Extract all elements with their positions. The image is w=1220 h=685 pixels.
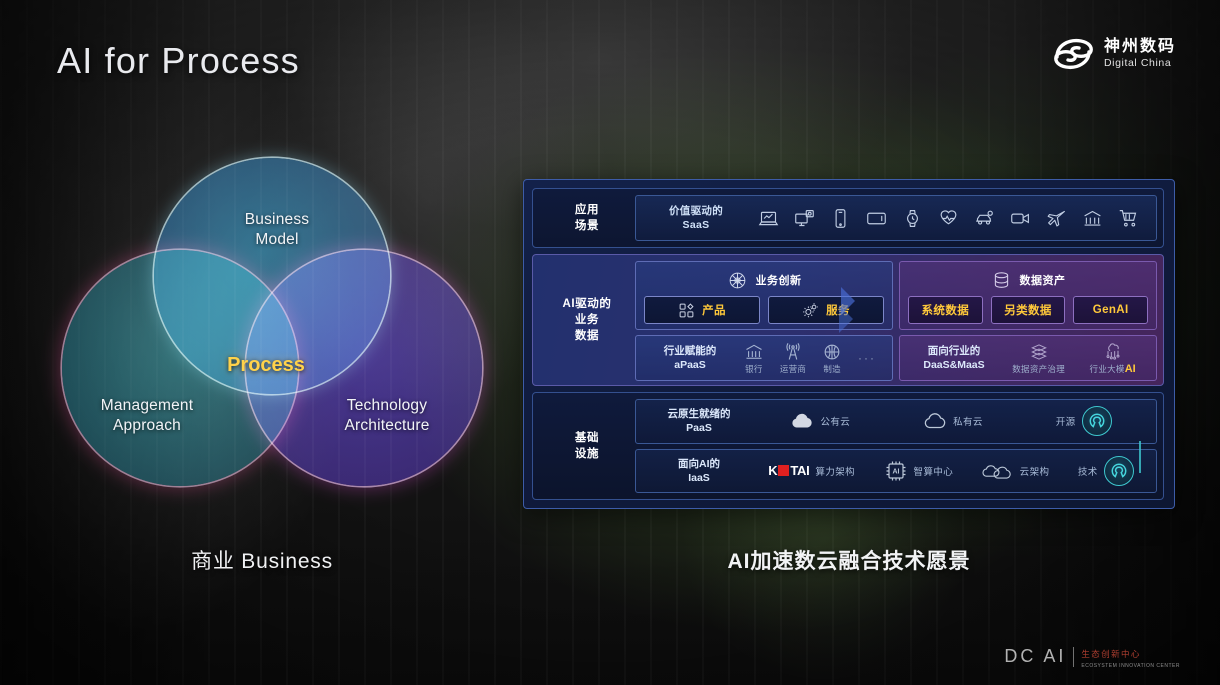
database-icon	[991, 270, 1012, 291]
venn-label-business-line2: Model	[217, 230, 337, 250]
tablet-icon	[866, 208, 887, 229]
daas-item-governance-label: 数据资产治理	[1012, 363, 1065, 375]
heartbeat-icon	[938, 208, 959, 229]
data-assets-header: 数据资产	[908, 267, 1148, 293]
iaas-item-compute-label: 算力架构	[815, 464, 855, 478]
footer-divider	[1073, 647, 1074, 667]
chip-alternative-data[interactable]: 另类数据	[991, 296, 1066, 324]
chip-product-label: 产品	[702, 302, 726, 318]
antenna-icon	[783, 342, 803, 362]
chip-product[interactable]: 产品	[644, 296, 760, 324]
venn-center-label: Process	[202, 354, 330, 377]
iaas-item-cloud-arch-label: 云架构	[1020, 464, 1050, 478]
apaas-item-manufacturing: 制造	[822, 342, 842, 375]
brand-text: 神州数码 Digital China	[1104, 39, 1176, 68]
business-innovation-box: 业务创新 产品 服务	[635, 261, 893, 330]
paas-badge-label: 开源	[1056, 414, 1076, 428]
blocks-icon	[678, 302, 695, 319]
paas-badge-opensource: 开源	[1056, 406, 1112, 436]
bank-icon	[1082, 208, 1103, 229]
daas-maas-title: 面向行业的 DaaS&MaaS	[908, 344, 1000, 372]
kutai-logo-icon: K TAI	[768, 463, 809, 478]
band-body-infrastructure: 云原生就绪的 PaaS 公有云 私有云 开源	[635, 399, 1157, 493]
kutai-red-square	[778, 465, 789, 476]
infra-row-iaas: 面向AI的 IaaS K TAI 算力架构 AI 智算中心	[635, 449, 1157, 494]
daas-item-governance: 数据资产治理	[1012, 342, 1065, 375]
daas-item-industry-llm-label: 行业大模	[1090, 363, 1125, 375]
chip-alternative-data-label: 另类数据	[1004, 302, 1052, 318]
venn-label-technology-line1: Technology	[312, 396, 462, 416]
svg-text:AI: AI	[892, 468, 899, 475]
apaas-box: 行业赋能的 aPaaS 银行 运营商	[635, 335, 893, 381]
footer-dcai-text: DC AI	[1004, 646, 1066, 667]
shopping-cart-icon	[1118, 208, 1139, 229]
chip-service-label: 服务	[826, 302, 850, 318]
bank-icon	[744, 342, 764, 362]
paas-item-private-cloud: 私有云	[923, 409, 983, 433]
venn-label-business-line1: Business	[217, 210, 337, 230]
venn-caption: 商业 Business	[62, 545, 462, 575]
daas-maas-items: 数据资产治理 行业大模 AI	[1000, 342, 1148, 375]
apaas-item-bank-label: 银行	[745, 363, 763, 375]
iaas-badge-label: 技术	[1078, 464, 1098, 478]
factory-globe-icon	[822, 342, 842, 362]
ai-chip-icon: AI	[884, 459, 908, 483]
band-application-scenarios: 应用 场景 价值驱动的 SaaS	[532, 188, 1164, 248]
data-governance-icon	[1029, 342, 1049, 362]
brand-logo: 神州数码 Digital China	[1051, 36, 1176, 72]
brand-name-cn: 神州数码	[1104, 39, 1176, 55]
band-label-infrastructure: 基础 设施	[539, 399, 635, 493]
iaas-badge-technology: 技术	[1078, 456, 1134, 486]
iaas-title: 面向AI的 IaaS	[644, 457, 754, 485]
business-innovation-header: 业务创新	[644, 267, 884, 293]
chip-system-data-label: 系统数据	[922, 302, 970, 318]
paas-title: 云原生就绪的 PaaS	[644, 407, 754, 435]
paas-item-public-cloud: 公有云	[790, 409, 850, 433]
badge-connector-line	[1139, 441, 1141, 473]
brand-name-en: Digital China	[1104, 58, 1176, 69]
column-business-innovation: 业务创新 产品 服务	[635, 261, 893, 381]
open-source-icon	[1104, 456, 1134, 486]
venn-label-technology: Technology Architecture	[312, 396, 462, 436]
footer-subtitle-en: ECOSYSTEM INNOVATION CENTER	[1081, 664, 1180, 669]
infra-row-paas: 云原生就绪的 PaaS 公有云 私有云 开源	[635, 399, 1157, 444]
iaas-item-ai-center: AI 智算中心	[884, 459, 954, 483]
chip-genai[interactable]: GenAI	[1073, 296, 1148, 324]
open-source-icon	[1082, 406, 1112, 436]
band-label-ai-driven: AI驱动的 业务 数据	[539, 261, 635, 379]
apaas-item-manufacturing-label: 制造	[823, 363, 841, 375]
chip-genai-label: GenAI	[1093, 304, 1129, 316]
paas-item-private-cloud-label: 私有云	[953, 414, 983, 428]
venn-label-technology-line2: Architecture	[312, 416, 462, 436]
saas-row: 价值驱动的 SaaS	[635, 195, 1157, 241]
paas-item-public-cloud-label: 公有云	[820, 414, 850, 428]
saas-title: 价值驱动的 SaaS	[646, 204, 746, 232]
business-innovation-title: 业务创新	[756, 272, 802, 288]
apaas-item-telecom-label: 运营商	[780, 363, 806, 375]
iaas-item-ai-center-label: 智算中心	[914, 464, 954, 478]
video-camera-icon	[1010, 208, 1031, 229]
paas-items: 公有云 私有云 开源	[754, 406, 1148, 436]
laptop-chart-icon	[758, 208, 779, 229]
apaas-title: 行业赋能的 aPaaS	[644, 344, 736, 372]
venn-diagram: Business Model Management Approach Techn…	[62, 158, 462, 518]
band-infrastructure: 基础 设施 云原生就绪的 PaaS 公有云 私有云	[532, 392, 1164, 500]
apaas-items: 银行 运营商 制造 ···	[736, 342, 884, 375]
footer-subtitle: 生态创新中心 ECOSYSTEM INNOVATION CENTER	[1081, 645, 1180, 669]
data-assets-title: 数据资产	[1020, 272, 1066, 288]
swirl-logo-icon	[1051, 36, 1095, 72]
cloud-filled-icon	[790, 409, 814, 433]
page-title: AI for Process	[57, 40, 300, 82]
smartwatch-icon	[902, 208, 923, 229]
architecture-panel: 应用 场景 价值驱动的 SaaS	[523, 179, 1175, 509]
daas-item-industry-llm: 行业大模 AI	[1090, 342, 1136, 375]
venn-label-management-line2: Approach	[72, 416, 222, 436]
apaas-ellipsis: ···	[858, 351, 876, 365]
venn-label-management-line1: Management	[72, 396, 222, 416]
daas-maas-box: 面向行业的 DaaS&MaaS 数据资产治理 行业大模	[899, 335, 1157, 381]
brain-network-icon	[1103, 342, 1123, 362]
band-ai-driven-business-data: AI驱动的 业务 数据 业务创新 产品	[532, 254, 1164, 386]
cluster-sphere-icon	[727, 270, 748, 291]
band-label-application: 应用 场景	[539, 195, 635, 241]
venn-label-management: Management Approach	[72, 396, 222, 436]
data-assets-chips: 系统数据 另类数据 GenAI	[908, 296, 1148, 324]
iaas-items: K TAI 算力架构 AI 智算中心 云架构	[754, 456, 1148, 486]
column-data-assets: 数据资产 系统数据 另类数据 GenAI	[899, 261, 1157, 381]
venn-label-business: Business Model	[217, 210, 337, 250]
cloud-outline-icon	[923, 409, 947, 433]
gears-icon	[802, 302, 819, 319]
vehicle-icon	[974, 208, 995, 229]
chip-system-data[interactable]: 系统数据	[908, 296, 983, 324]
iaas-item-cloud-arch: 云架构	[982, 459, 1050, 483]
business-innovation-chips: 产品 服务	[644, 296, 884, 324]
desktop-camera-icon	[794, 208, 815, 229]
daas-item-industry-llm-ai: AI	[1125, 363, 1136, 375]
ai-columns-grid: 业务创新 产品 服务	[635, 261, 1157, 381]
airplane-icon	[1046, 208, 1067, 229]
architecture-caption: AI加速数云融合技术愿景	[523, 545, 1175, 575]
band-body-ai-driven: 业务创新 产品 服务	[635, 261, 1157, 379]
data-assets-box: 数据资产 系统数据 另类数据 GenAI	[899, 261, 1157, 330]
iaas-item-compute: K TAI 算力架构	[768, 463, 855, 478]
apaas-item-telecom: 运营商	[780, 342, 806, 375]
multi-cloud-icon	[982, 459, 1014, 483]
chip-service[interactable]: 服务	[768, 296, 884, 324]
band-body-application: 价值驱动的 SaaS	[635, 195, 1157, 241]
saas-icon-strip	[750, 208, 1146, 229]
smartphone-icon	[830, 208, 851, 229]
apaas-item-bank: 银行	[744, 342, 764, 375]
footer-logo: DC AI 生态创新中心 ECOSYSTEM INNOVATION CENTER	[1004, 645, 1180, 669]
footer-subtitle-cn: 生态创新中心	[1081, 649, 1140, 659]
